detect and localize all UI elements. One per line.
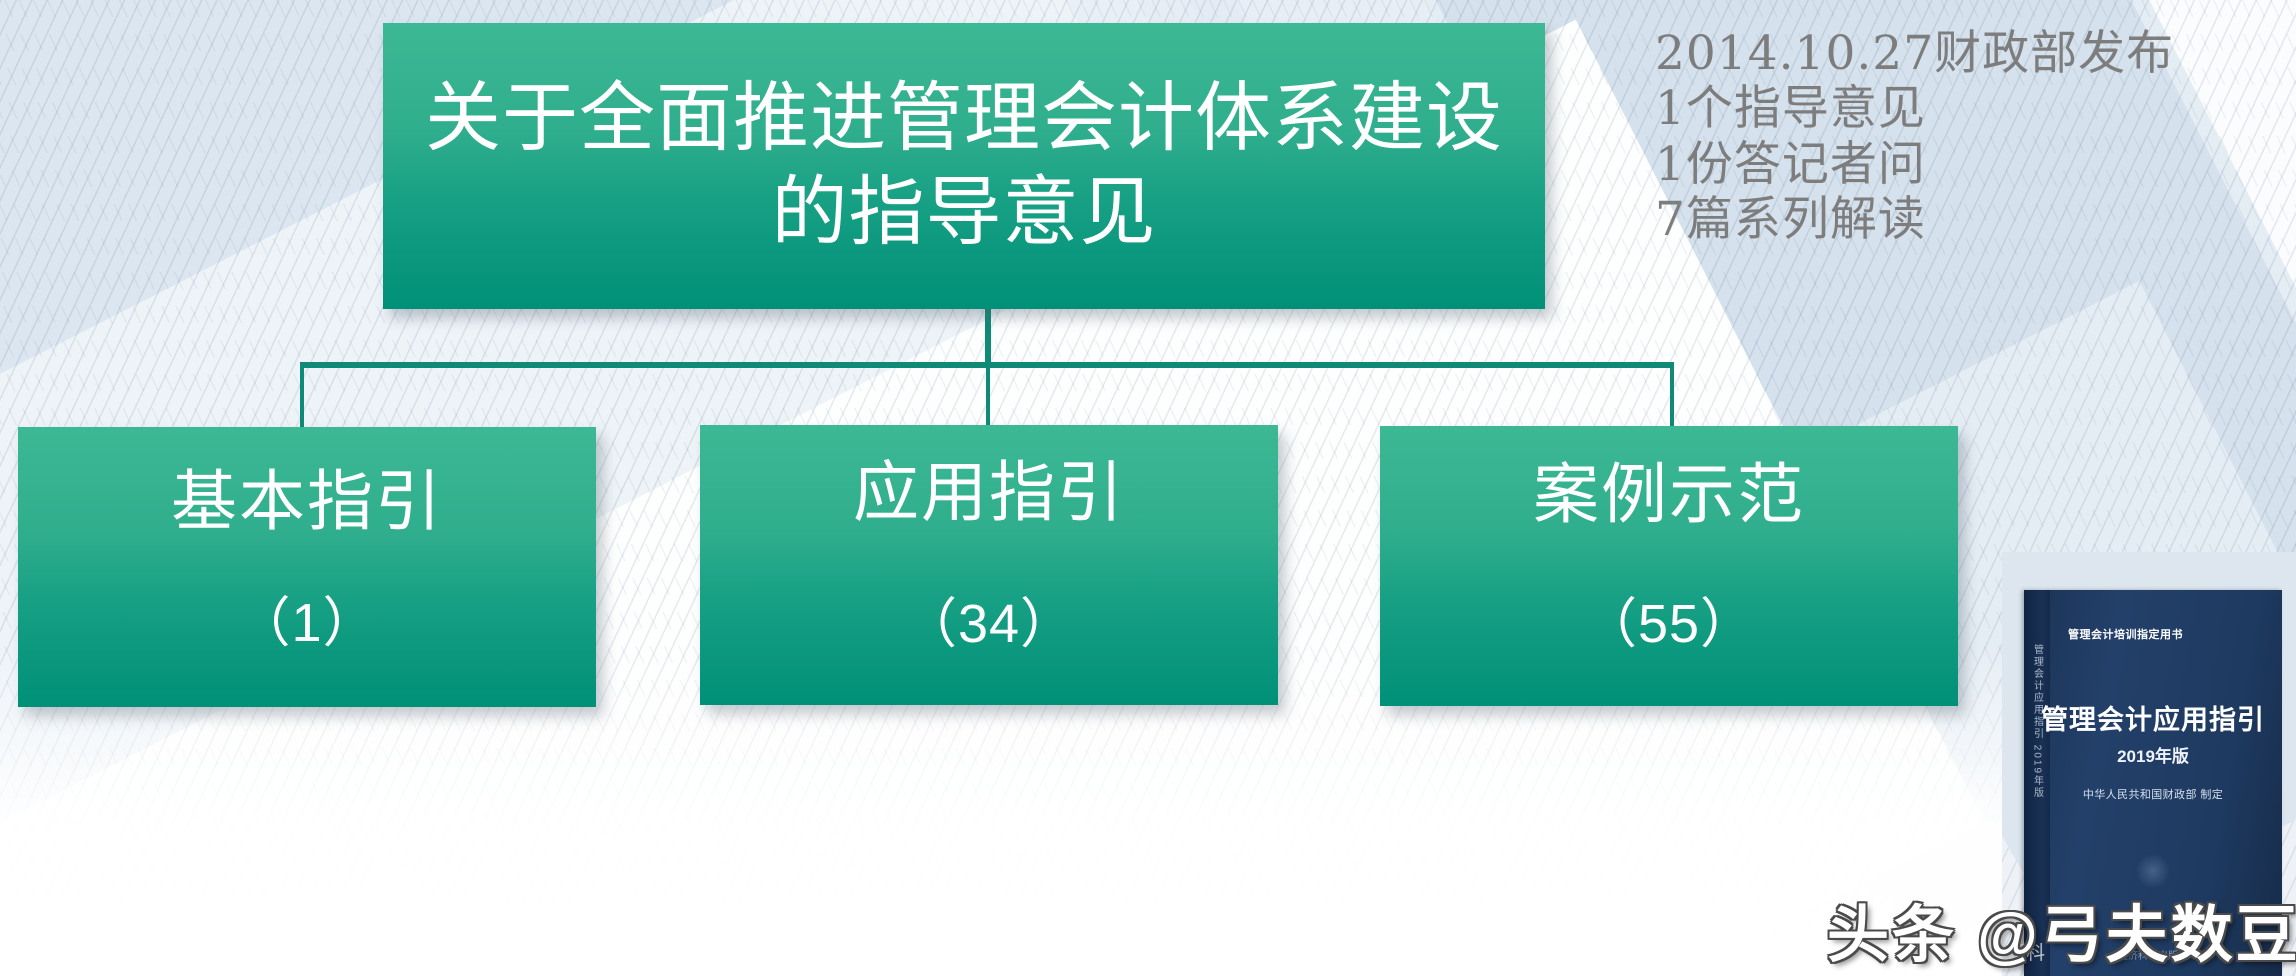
node-basic-guideline-count: （1） — [236, 592, 377, 655]
publication-note-line-3: 1份答记者问 — [1655, 137, 2215, 192]
root-node-title-line2: 的指导意见 — [772, 169, 1157, 257]
connector-drop-left — [300, 362, 304, 430]
node-basic-guideline-label: 基本指引 — [171, 463, 443, 540]
node-case-demonstration[interactable]: 案例示范 （55） — [1380, 426, 1958, 706]
book-issuer-text: 中华人民共和国财政部 制定 — [2024, 786, 2282, 802]
node-application-guideline-count: （34） — [903, 593, 1075, 656]
node-basic-guideline[interactable]: 基本指引 （1） — [18, 427, 596, 707]
root-node-title-box[interactable]: 关于全面推进管理会计体系建设 的指导意见 — [383, 23, 1545, 309]
book-emblem-icon — [2136, 854, 2170, 888]
connector-drop-right — [1670, 362, 1674, 430]
publication-note-line-2: 1个指导意见 — [1655, 81, 2215, 136]
publication-note-line-4: 7篇系列解读 — [1655, 192, 2215, 247]
publication-note-line-1: 2014.10.27财政部发布 — [1655, 26, 2215, 81]
node-application-guideline[interactable]: 应用指引 （34） — [700, 425, 1278, 705]
book-edition-text: 2019年版 — [2024, 742, 2282, 767]
book-kicker-text: 管理会计培训指定用书 — [2068, 626, 2183, 642]
publication-note-block: 2014.10.27财政部发布 1个指导意见 1份答记者问 7篇系列解读 — [1655, 26, 2215, 248]
connector-stem — [985, 308, 991, 368]
book-title-text: 管理会计应用指引 — [2024, 698, 2282, 737]
node-case-demonstration-count: （55） — [1583, 593, 1755, 656]
node-application-guideline-label: 应用指引 — [853, 454, 1125, 531]
root-node-title-line1: 关于全面推进管理会计体系建设 — [425, 75, 1503, 163]
node-case-demonstration-label: 案例示范 — [1533, 456, 1805, 533]
slide-canvas: 关于全面推进管理会计体系建设 的指导意见 2014.10.27财政部发布 1个指… — [0, 0, 2296, 976]
connector-drop-middle — [986, 362, 990, 430]
author-watermark: 头条 @弓夫数豆 — [1827, 884, 2296, 974]
